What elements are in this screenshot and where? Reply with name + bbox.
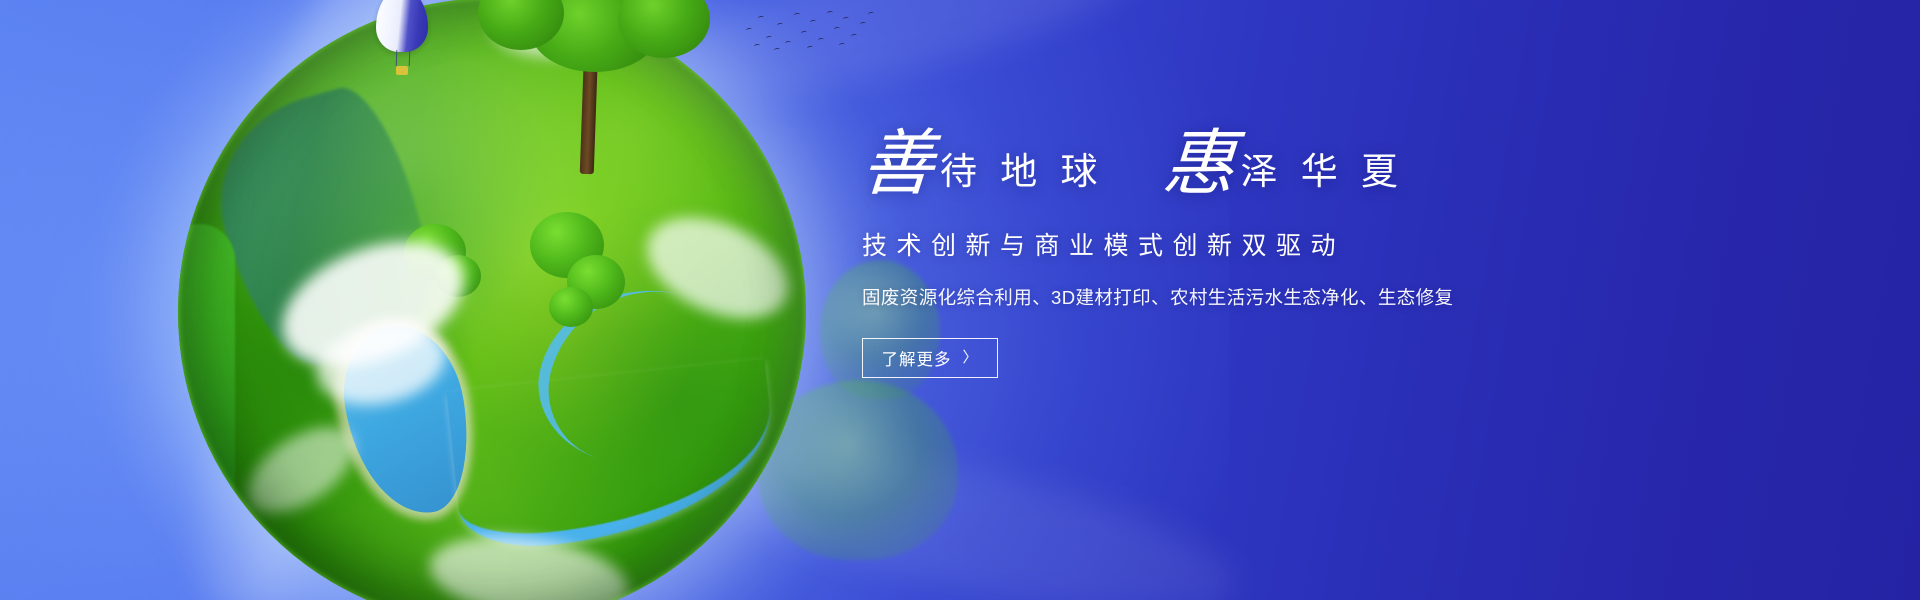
tree-icon: [478, 0, 708, 184]
hero-subtitle: 技术创新与商业模式创新双驱动: [862, 226, 1582, 262]
headline-rest-2: 泽 华 夏: [1241, 154, 1406, 191]
chevron-right-icon: 〉: [962, 350, 978, 365]
headline-emphasis-2: 惠: [1160, 128, 1243, 200]
hero-copy: 善 待 地 球 惠 泽 华 夏 技术创新与商业模式创新双驱动 固废资源化综合利用…: [862, 128, 1582, 378]
balloon-envelope: [376, 0, 428, 52]
earth-globe-illustration: [148, 0, 848, 600]
bird-flock-icon: [744, 8, 874, 54]
balloon-lines: [396, 50, 411, 66]
hero-banner: 善 待 地 球 惠 泽 华 夏 技术创新与商业模式创新双驱动 固废资源化综合利用…: [0, 0, 1920, 600]
balloon-basket: [396, 66, 408, 75]
hot-air-balloon-icon: [376, 0, 432, 88]
learn-more-label: 了解更多: [881, 346, 951, 370]
page-title: 善 待 地 球 惠 泽 华 夏: [862, 128, 1582, 200]
hero-description: 固废资源化综合利用、3D建材打印、农村生活污水生态净化、生态修复: [862, 284, 1582, 310]
headline-emphasis-1: 善: [859, 128, 942, 200]
learn-more-button[interactable]: 了解更多 〉: [862, 338, 998, 378]
headline-rest-1: 待 地 球: [940, 154, 1105, 191]
